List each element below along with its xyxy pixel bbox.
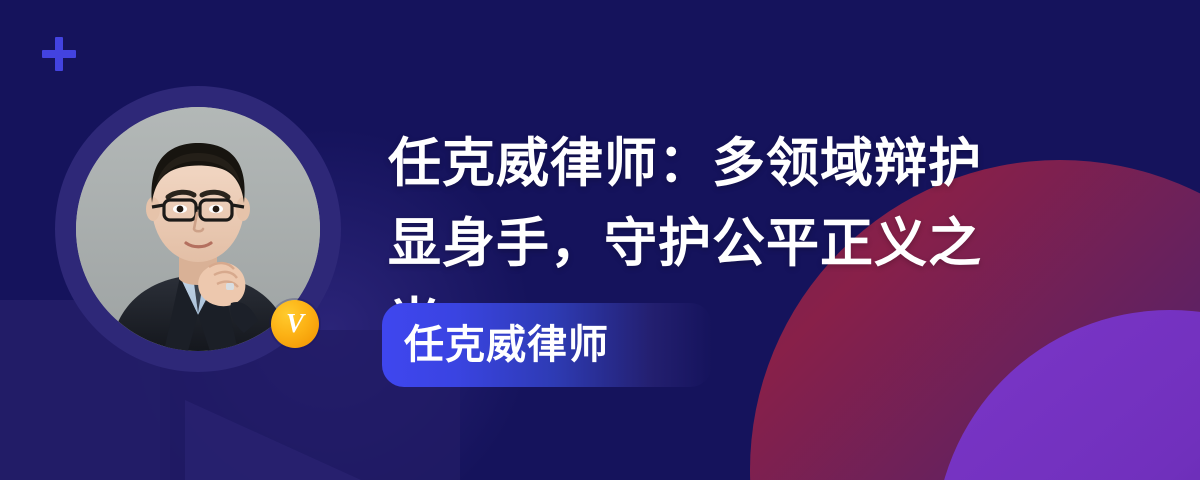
headline-line-2: 显身手，守护公平正义之 [388, 204, 1088, 284]
verified-badge-letter: V [286, 310, 304, 337]
decor-triangle [185, 400, 515, 480]
avatar[interactable]: V [55, 86, 341, 372]
headline-line-1: 任克威律师：多领域辩护 [388, 124, 1088, 204]
author-name-pill[interactable]: 任克威律师 [382, 303, 712, 387]
author-name-label: 任克威律师 [382, 325, 609, 365]
profile-banner: V 任克威律师：多领域辩护 显身手，守护公平正义之 光 任克威律师 [0, 0, 1200, 480]
verified-badge-icon: V [271, 300, 319, 348]
plus-icon [41, 36, 77, 72]
